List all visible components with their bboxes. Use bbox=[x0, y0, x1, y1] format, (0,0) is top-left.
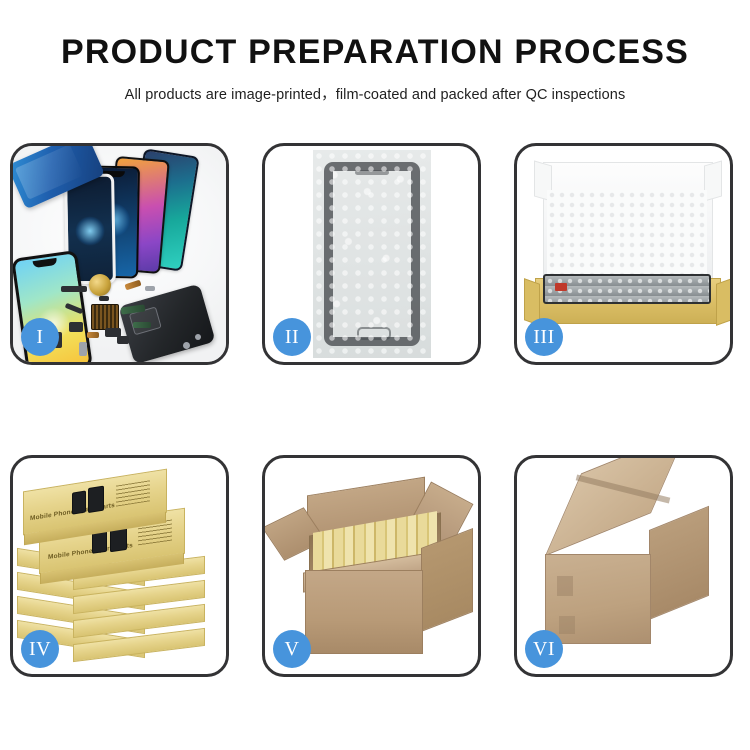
step-badge-3: III bbox=[525, 318, 563, 356]
process-step-panel-1: I bbox=[10, 143, 229, 365]
process-step-panel-6: VI bbox=[514, 455, 733, 677]
process-step-panel-5: V bbox=[262, 455, 481, 677]
step-badge-6: VI bbox=[525, 630, 563, 668]
step-badge-2: II bbox=[273, 318, 311, 356]
step-badge-4: IV bbox=[21, 630, 59, 668]
page-header: PRODUCT PREPARATION PROCESS All products… bbox=[0, 0, 750, 104]
process-step-panel-2: II bbox=[262, 143, 481, 365]
page-subtitle: All products are image-printed，film-coat… bbox=[0, 83, 750, 104]
step-badge-1: I bbox=[21, 318, 59, 356]
process-step-panel-4: Mobile Phone Spare Parts Mobile Phone Sp… bbox=[10, 455, 229, 677]
process-step-panel-3: III bbox=[514, 143, 733, 365]
process-steps-grid: I II III bbox=[10, 143, 740, 677]
step-badge-5: V bbox=[273, 630, 311, 668]
page-title: PRODUCT PREPARATION PROCESS bbox=[0, 34, 750, 71]
